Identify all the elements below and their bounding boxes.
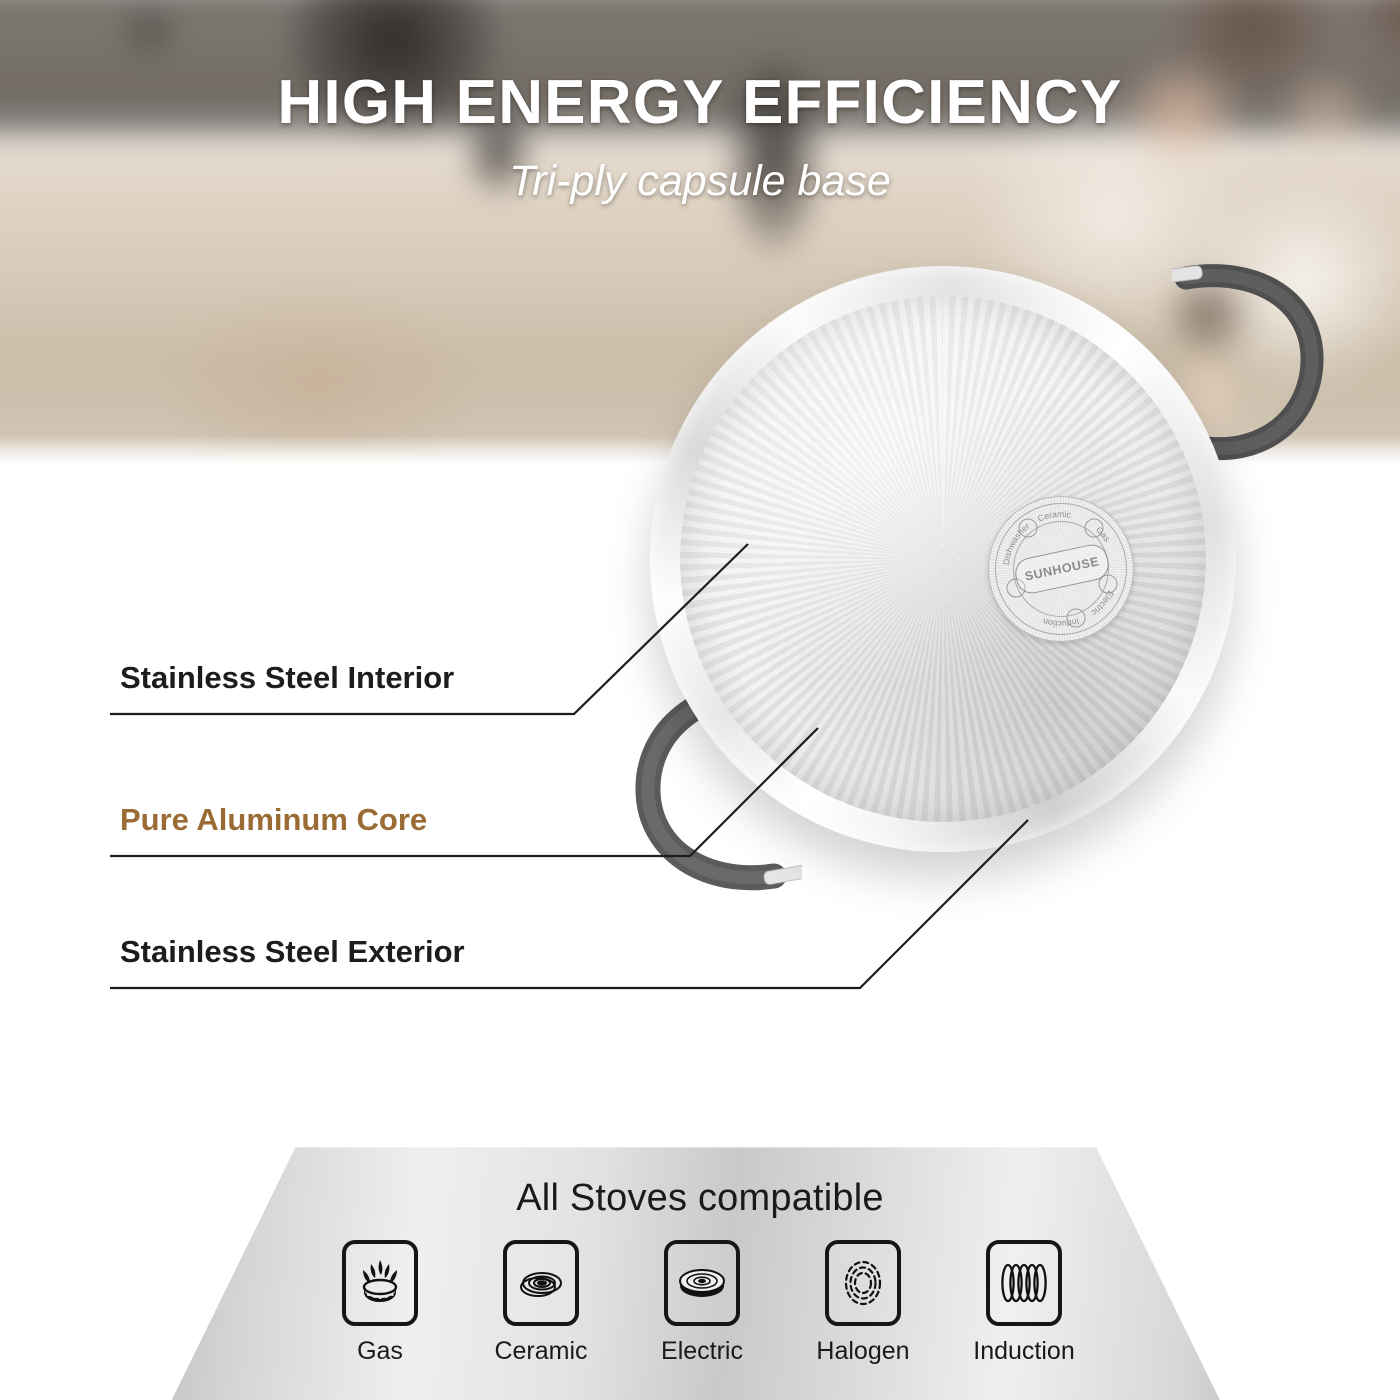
electric-coil-icon <box>664 1240 740 1326</box>
halogen-ring-icon <box>825 1240 901 1326</box>
gas-burner-icon <box>342 1240 418 1326</box>
product-image-pan: Ceramic Gas Electric Induction Dishwashe… <box>612 258 1400 1058</box>
stove-label-electric: Electric <box>661 1337 743 1366</box>
stove-item-electric: Electric <box>654 1240 750 1366</box>
svg-text:Electric: Electric <box>1089 589 1116 618</box>
stove-item-induction: Induction <box>976 1240 1072 1366</box>
compatibility-panel: All Stoves compatible <box>0 1140 1400 1400</box>
stove-label-induction: Induction <box>973 1337 1074 1366</box>
induction-coil-icon <box>986 1240 1062 1326</box>
compatibility-title: All Stoves compatible <box>0 1177 1400 1220</box>
stove-item-ceramic: Ceramic <box>493 1240 589 1366</box>
page-subtitle: Tri-ply capsule base <box>0 160 1400 203</box>
stove-item-gas: Gas <box>332 1240 428 1366</box>
svg-text:Ceramic: Ceramic <box>1036 509 1072 524</box>
infographic-page: HIGH ENERGY EFFICIENCY Tri-ply capsule b… <box>0 0 1400 1400</box>
stove-item-halogen: Halogen <box>815 1240 911 1366</box>
page-title: HIGH ENERGY EFFICIENCY <box>0 72 1400 134</box>
callout-label-stainless-exterior: Stainless Steel Exterior <box>120 934 465 970</box>
stove-icon-row: Gas Ceramic <box>332 1240 1072 1366</box>
stove-label-halogen: Halogen <box>816 1337 909 1366</box>
ceramic-hob-icon <box>503 1240 579 1326</box>
callout-label-stainless-interior: Stainless Steel Interior <box>120 660 454 696</box>
stove-label-ceramic: Ceramic <box>494 1337 587 1366</box>
brand-medallion: Ceramic Gas Electric Induction Dishwashe… <box>988 496 1134 642</box>
stove-label-gas: Gas <box>357 1337 403 1366</box>
callout-label-aluminum-core: Pure Aluminum Core <box>120 802 427 838</box>
pan-base-disc: Ceramic Gas Electric Induction Dishwashe… <box>650 266 1236 852</box>
